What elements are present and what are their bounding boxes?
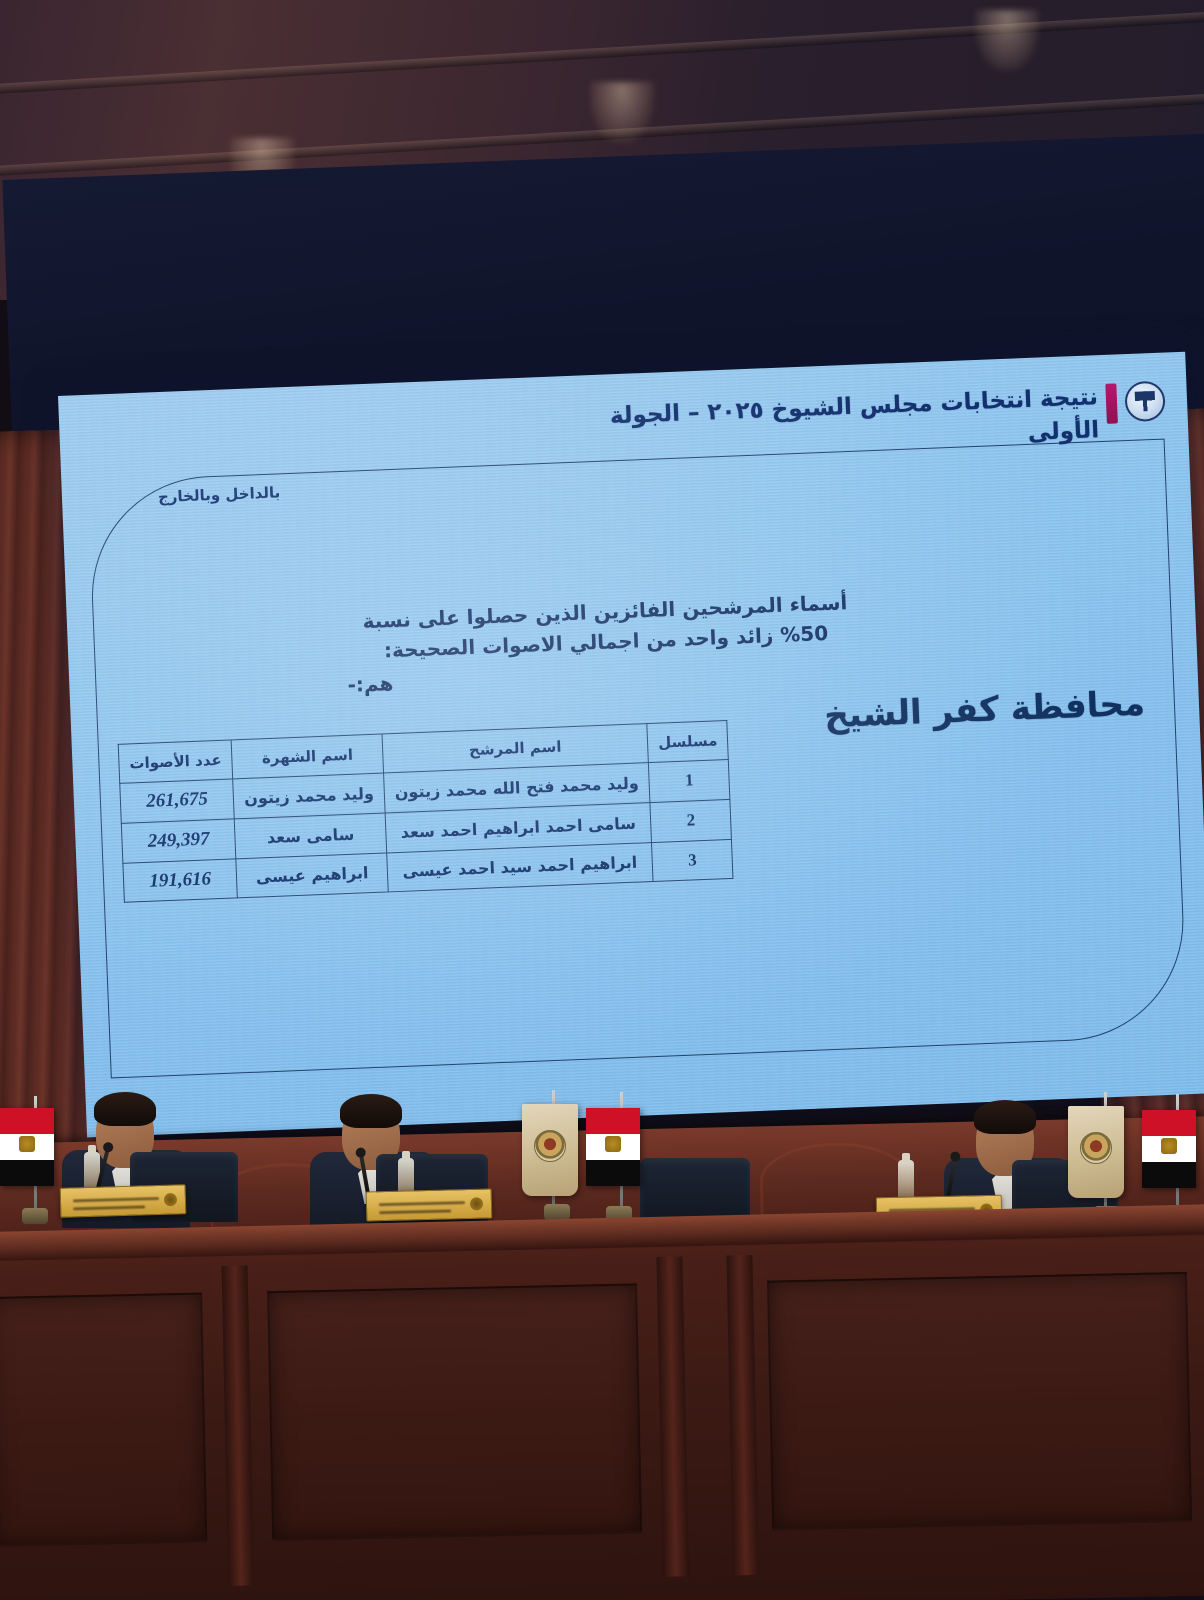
- cell-fame: ابراهيم عيسى: [236, 853, 388, 899]
- cell-fame: وليد محمد زيتون: [233, 773, 385, 819]
- person-hair: [94, 1092, 156, 1126]
- column-header-fame: اسم الشهرة: [231, 734, 383, 779]
- egypt-flag-icon: [586, 1108, 640, 1186]
- person-hair: [974, 1100, 1036, 1134]
- flag-base: [544, 1204, 570, 1220]
- institution-flag-icon: [522, 1104, 578, 1196]
- results-table: مسلسل اسم المرشح اسم الشهرة عدد الأصوات …: [118, 720, 734, 903]
- results-table-body: 1 وليد محمد فتح الله محمد زيتون وليد محم…: [120, 759, 734, 902]
- dais-front-wall: [0, 1235, 1204, 1600]
- nameplate: [60, 1184, 187, 1218]
- institution-flag-icon: [1068, 1106, 1124, 1198]
- republic-emblem-icon: [1124, 381, 1166, 423]
- dais-panel: [767, 1272, 1192, 1531]
- egypt-flag-icon: [1142, 1110, 1196, 1188]
- column-header-seq: مسلسل: [647, 720, 729, 762]
- dais-pillar: [726, 1255, 759, 1575]
- dais-panel: [0, 1293, 207, 1547]
- wall-light-icon: [590, 82, 654, 142]
- accent-bar: [1105, 383, 1118, 423]
- nameplate: [366, 1188, 493, 1221]
- photo-scene: نتيجة انتخابات مجلس الشيوخ ٢٠٢٥ – الجولة…: [0, 0, 1204, 1600]
- projection-screen: نتيجة انتخابات مجلس الشيوخ ٢٠٢٥ – الجولة…: [58, 352, 1204, 1138]
- person-hair: [340, 1094, 402, 1128]
- dais-pillar: [222, 1266, 255, 1586]
- cell-seq: 1: [648, 759, 730, 802]
- cell-seq: 2: [650, 799, 732, 842]
- dais-pillar: [656, 1256, 689, 1576]
- column-header-votes: عدد الأصوات: [118, 740, 233, 783]
- flag-base: [22, 1208, 48, 1224]
- cell-fame: سامى سعد: [234, 813, 386, 859]
- wall-light-icon: [975, 10, 1039, 70]
- cell-seq: 3: [652, 839, 734, 882]
- cell-votes: 261,675: [120, 779, 235, 823]
- cell-votes: 191,616: [123, 858, 238, 902]
- egypt-flag-icon: [0, 1108, 54, 1186]
- dais-panel: [267, 1283, 642, 1541]
- cell-votes: 249,397: [121, 819, 236, 863]
